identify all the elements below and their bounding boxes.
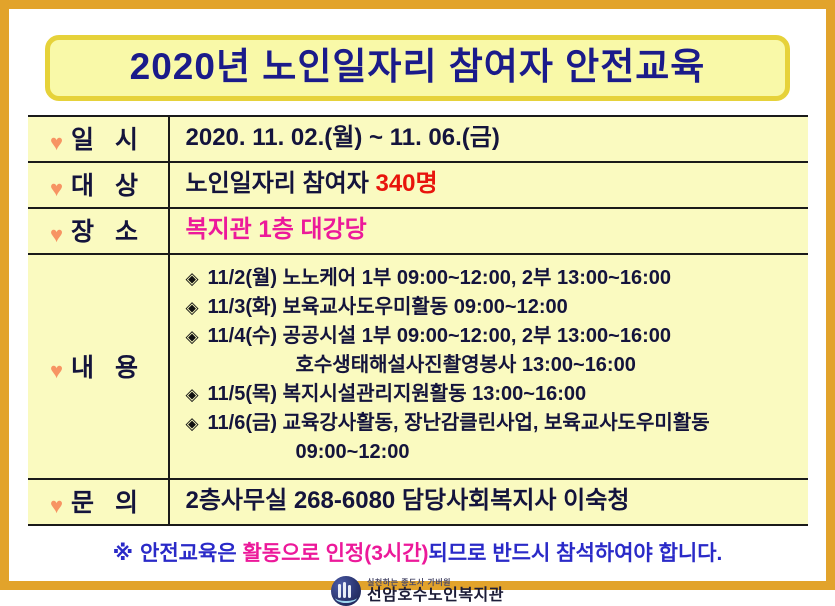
row-value-contact: 2층사무실 268-6080 담당사회복지사 이숙청 bbox=[186, 486, 808, 516]
page-title: 2020년 노인일자리 참여자 안전교육 bbox=[56, 46, 779, 87]
table-row-place: ♥장 소 복지관 1층 대강당 bbox=[28, 208, 808, 254]
schedule-item-text: 11/6(금) 교육강사활동, 장난감클린사업, 보육교사도우미활동 bbox=[208, 412, 710, 434]
asterisk-icon: ※ bbox=[113, 542, 133, 565]
note-part-2: 되므로 반드시 참석하여야 합니다. bbox=[429, 542, 723, 565]
schedule-item: 호수생태해설사진촬영봉사 13:00~16:00 bbox=[186, 351, 808, 380]
value-cell-target: 노인일자리 참여자 340명 bbox=[169, 162, 808, 208]
schedule-item-text: 11/3(화) 보육교사도우미활동 09:00~12:00 bbox=[208, 296, 568, 318]
target-main-text: 노인일자리 참여자 bbox=[186, 170, 376, 197]
label-cell-place: ♥장 소 bbox=[28, 208, 169, 254]
schedule-item: ◈11/2(월) 노노케어 1부 09:00~12:00, 2부 13:00~1… bbox=[186, 264, 808, 293]
label-cell-content: ♥내 용 bbox=[28, 254, 169, 479]
table-row-contact: ♥문 의 2층사무실 268-6080 담당사회복지사 이숙청 bbox=[28, 479, 808, 525]
row-label-place: 장 소 bbox=[69, 212, 145, 248]
schedule-item-text: 09:00~12:00 bbox=[296, 441, 410, 463]
schedule-item: 09:00~12:00 bbox=[186, 438, 808, 467]
schedule-item: ◈11/5(목) 복지시설관리지원활동 13:00~16:00 bbox=[186, 380, 808, 409]
info-table: ♥일 시 2020. 11. 02.(월) ~ 11. 06.(금) ♥대 상 … bbox=[28, 115, 808, 526]
schedule-item-text: 호수생태해설사진촬영봉사 13:00~16:00 bbox=[296, 354, 636, 376]
schedule-list: ◈11/2(월) 노노케어 1부 09:00~12:00, 2부 13:00~1… bbox=[186, 264, 808, 467]
diamond-bullet-icon: ◈ bbox=[186, 296, 208, 321]
heart-icon: ♥ bbox=[50, 495, 63, 517]
logo-tagline: 실천하는 종도사 가버원 bbox=[367, 579, 451, 587]
table-row-date: ♥일 시 2020. 11. 02.(월) ~ 11. 06.(금) bbox=[28, 116, 808, 162]
schedule-item: ◈11/4(수) 공공시설 1부 09:00~12:00, 2부 13:00~1… bbox=[186, 322, 808, 351]
value-cell-contact: 2층사무실 268-6080 담당사회복지사 이숙청 bbox=[169, 479, 808, 525]
heart-icon: ♥ bbox=[50, 132, 63, 154]
diamond-bullet-icon: ◈ bbox=[186, 412, 208, 437]
schedule-item-text: 11/4(수) 공공시설 1부 09:00~12:00, 2부 13:00~16… bbox=[208, 325, 672, 347]
value-cell-date: 2020. 11. 02.(월) ~ 11. 06.(금) bbox=[169, 116, 808, 162]
row-value-target: 노인일자리 참여자 340명 bbox=[186, 169, 808, 199]
row-label-target: 대 상 bbox=[69, 166, 145, 202]
schedule-item: ◈11/6(금) 교육강사활동, 장난감클린사업, 보육교사도우미활동 bbox=[186, 409, 808, 438]
target-count-badge: 340명 bbox=[375, 170, 437, 197]
logo-text-block: 실천하는 종도사 가버원 선암호수노인복지관 bbox=[367, 579, 504, 604]
schedule-item-text: 11/5(목) 복지시설관리지원활동 13:00~16:00 bbox=[208, 383, 587, 405]
label-cell-date: ♥일 시 bbox=[28, 116, 169, 162]
row-label-contact: 문 의 bbox=[69, 483, 145, 519]
heart-icon: ♥ bbox=[50, 224, 63, 246]
note-part-1: 안전교육은 bbox=[140, 542, 242, 565]
poster-frame: 2020년 노인일자리 참여자 안전교육 ♥일 시 2020. 11. 02.(… bbox=[0, 0, 835, 590]
logo-organization-name: 선암호수노인복지관 bbox=[367, 588, 504, 604]
footer-note: ※안전교육은 활동으로 인정(3시간)되므로 반드시 참석하여야 합니다. bbox=[28, 537, 808, 567]
welfare-center-logo-icon bbox=[331, 576, 361, 606]
row-label-content: 내 용 bbox=[69, 348, 145, 384]
row-value-date: 2020. 11. 02.(월) ~ 11. 06.(금) bbox=[186, 123, 808, 153]
row-label-date: 일 시 bbox=[69, 120, 145, 156]
label-cell-contact: ♥문 의 bbox=[28, 479, 169, 525]
table-row-content: ♥내 용 ◈11/2(월) 노노케어 1부 09:00~12:00, 2부 13… bbox=[28, 254, 808, 479]
value-cell-content: ◈11/2(월) 노노케어 1부 09:00~12:00, 2부 13:00~1… bbox=[169, 254, 808, 479]
heart-icon: ♥ bbox=[50, 178, 63, 200]
diamond-bullet-icon: ◈ bbox=[186, 325, 208, 350]
label-cell-target: ♥대 상 bbox=[28, 162, 169, 208]
organization-logo: 실천하는 종도사 가버원 선암호수노인복지관 bbox=[27, 576, 808, 606]
diamond-bullet-icon: ◈ bbox=[186, 383, 208, 408]
value-cell-place: 복지관 1층 대강당 bbox=[169, 208, 808, 254]
diamond-bullet-icon: ◈ bbox=[186, 267, 208, 292]
heart-icon: ♥ bbox=[50, 360, 63, 382]
schedule-item-text: 11/2(월) 노노케어 1부 09:00~12:00, 2부 13:00~16… bbox=[208, 267, 672, 289]
note-highlight: 활동으로 인정(3시간) bbox=[242, 542, 428, 565]
table-row-target: ♥대 상 노인일자리 참여자 340명 bbox=[28, 162, 808, 208]
poster-title-box: 2020년 노인일자리 참여자 안전교육 bbox=[45, 35, 790, 101]
row-value-place: 복지관 1층 대강당 bbox=[186, 215, 808, 245]
poster-inner: 2020년 노인일자리 참여자 안전교육 ♥일 시 2020. 11. 02.(… bbox=[9, 9, 826, 581]
schedule-item: ◈11/3(화) 보육교사도우미활동 09:00~12:00 bbox=[186, 293, 808, 322]
